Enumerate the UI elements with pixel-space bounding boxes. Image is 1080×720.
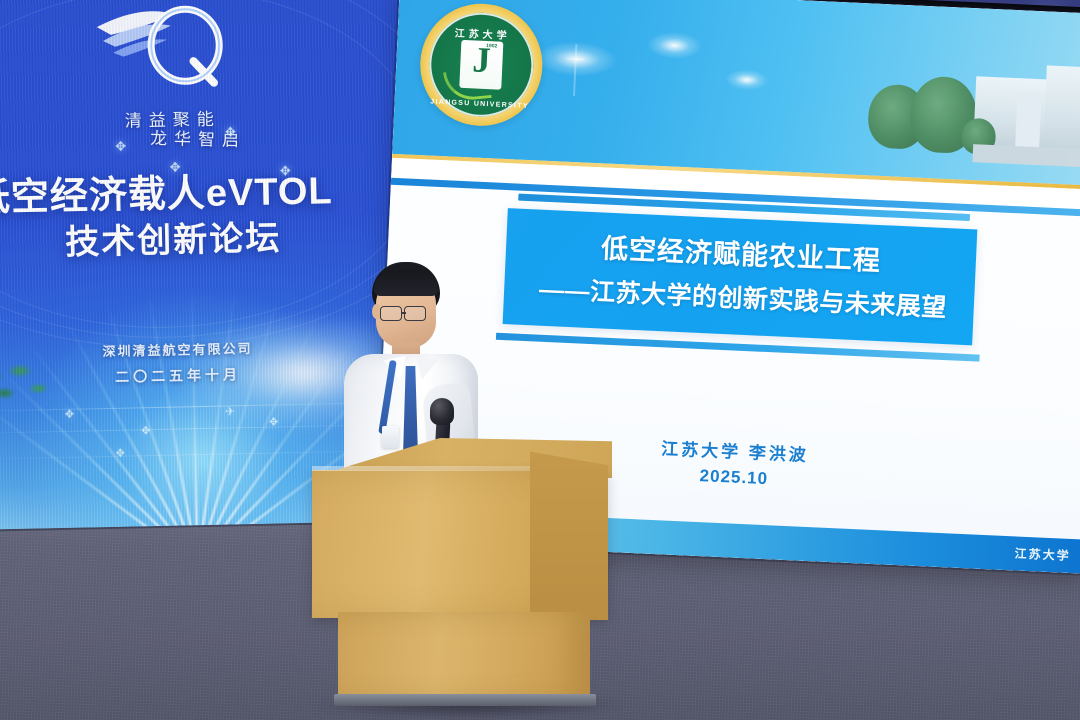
- eyeglasses-bridge: [402, 312, 406, 314]
- eyeglasses-icon: [380, 306, 402, 321]
- seal-year: 1902: [486, 43, 497, 49]
- handheld-microphone-icon: [430, 398, 454, 425]
- hair-front: [374, 270, 438, 296]
- drone-icon: ✥: [141, 424, 150, 437]
- drone-icon: ✥: [225, 124, 236, 140]
- podium-side-panel: [530, 448, 608, 620]
- name-badge-icon: [382, 426, 399, 448]
- conference-stage-photo: 清益聚能 龙华智启 低空经济载人eVTOL 技术创新论坛 深圳清益航空有限公司 …: [0, 0, 1080, 720]
- seal-name-en: JIANGSU UNIVERSITY: [427, 98, 531, 110]
- eyeglasses-icon: [404, 306, 426, 321]
- foliage-decoration: [0, 361, 89, 443]
- seal-swoosh: [443, 68, 492, 102]
- collar-right: [412, 356, 438, 382]
- drone-icon: ✥: [170, 159, 181, 175]
- aircraft-icon: ✈: [225, 404, 235, 418]
- drone-icon: ✥: [269, 415, 278, 428]
- slide-title-box: 低空经济赋能农业工程 ——江苏大学的创新实践与未来展望: [503, 208, 978, 345]
- drone-icon: ✥: [280, 163, 291, 179]
- drone-icon: ✥: [115, 139, 126, 155]
- podium-base: [338, 612, 590, 698]
- footer-watermark: 江苏大学: [1014, 544, 1071, 564]
- q-wing-logo-icon: [88, 0, 238, 101]
- podium-foot: [334, 694, 596, 706]
- banner-title-line2: 技术创新论坛: [0, 208, 374, 265]
- seal-ring: 江苏大学 1902 JIANGSU UNIVERSITY: [427, 10, 536, 119]
- campus-photo-icon: [864, 29, 1080, 186]
- drone-icon: ✥: [116, 447, 125, 460]
